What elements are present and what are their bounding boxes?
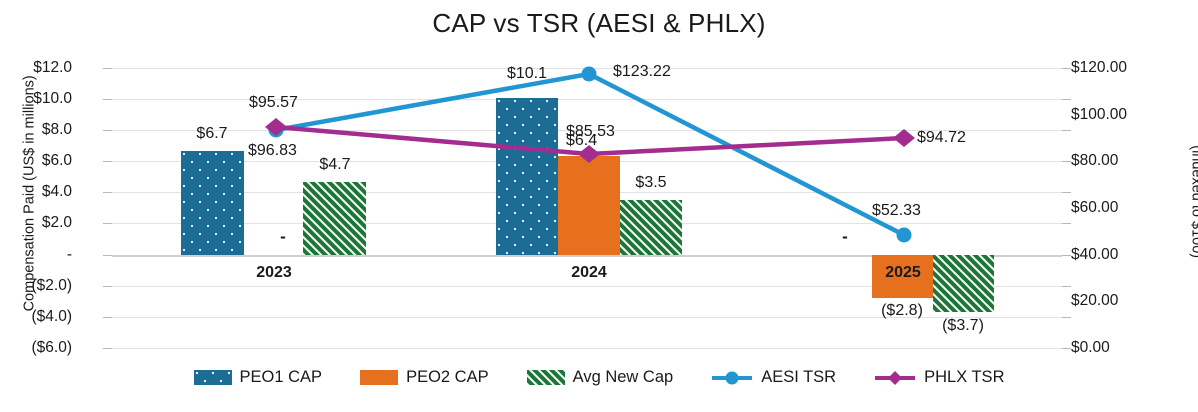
y2-tick-label: $60.00 <box>1071 200 1118 216</box>
tick-mark-left <box>103 68 112 69</box>
tick-mark-right <box>1062 99 1071 100</box>
y-tick-label: $12.0 <box>33 60 72 76</box>
tick-mark-right <box>1062 348 1071 349</box>
y2-tick-label: $120.00 <box>1071 60 1127 76</box>
bar-label-2023-peo1-cap: $6.7 <box>152 126 272 142</box>
point-label-aesi-tsr-2024: $123.22 <box>613 64 671 80</box>
gridline <box>112 348 1062 349</box>
y2-tick-label: $100.00 <box>1071 107 1127 123</box>
y-tick-label: $4.0 <box>42 184 72 200</box>
y-tick-label: - <box>67 247 72 263</box>
legend-line-diamond-icon <box>874 370 916 386</box>
y-tick-label: ($4.0) <box>32 309 73 325</box>
legend-item-peo1-cap[interactable]: PEO1 CAP <box>194 368 323 387</box>
y2-tick-label: $40.00 <box>1071 247 1118 263</box>
legend-item-peo2-cap[interactable]: PEO2 CAP <box>360 368 489 387</box>
bar-2024-avg-new-cap[interactable] <box>620 200 682 255</box>
bar-label-2025-peo1-cap: - <box>805 228 885 245</box>
aesi-tsr-marker-2025[interactable] <box>897 228 912 243</box>
y-tick-label: $10.0 <box>33 91 72 107</box>
y-tick-label: $6.0 <box>42 153 72 169</box>
bar-label-2024-peo1-cap: $10.1 <box>467 66 587 82</box>
bar-2024-peo2-cap[interactable] <box>558 156 620 255</box>
y-axis-title-right: Total Shareholder Return (indexed to $10… <box>1188 52 1198 352</box>
legend-line-circle-icon <box>711 370 753 386</box>
bar-2023-peo1-cap[interactable] <box>181 151 244 255</box>
bar-label-2023-avg-new-cap: $4.7 <box>275 157 395 173</box>
tick-mark-right <box>1062 68 1071 69</box>
bar-2024-peo1-cap[interactable] <box>496 98 558 255</box>
chart-legend: PEO1 CAP PEO2 CAP Avg New Cap AESI TSR P… <box>0 368 1198 387</box>
legend-label-avg-new-cap: Avg New Cap <box>573 368 674 387</box>
x-axis-group-label-2023: 2023 <box>214 265 334 281</box>
y-tick-label: ($2.0) <box>32 278 73 294</box>
y2-tick-label: $80.00 <box>1071 153 1118 169</box>
point-label-phlx-tsr-2023: $96.83 <box>248 143 297 159</box>
y-tick-label: $2.0 <box>42 215 72 231</box>
bar-2025-avg-new-cap[interactable] <box>933 255 994 312</box>
point-label-aesi-tsr-2023: $95.57 <box>249 95 298 111</box>
x-axis-group-label-2024: 2024 <box>529 265 649 281</box>
legend-item-phlx-tsr[interactable]: PHLX TSR <box>874 368 1004 387</box>
tick-mark-left <box>103 161 112 162</box>
legend-swatch-peo2-cap-icon <box>360 370 398 385</box>
point-label-phlx-tsr-2025: $94.72 <box>917 130 966 146</box>
tick-mark-right <box>1062 223 1071 224</box>
legend-label-aesi-tsr: AESI TSR <box>761 368 836 387</box>
tick-mark-right <box>1062 317 1071 318</box>
point-label-aesi-tsr-2025: $52.33 <box>872 203 921 219</box>
gridline <box>112 68 1062 69</box>
legend-label-phlx-tsr: PHLX TSR <box>924 368 1004 387</box>
tick-mark-left <box>103 317 112 318</box>
y2-tick-label: $20.00 <box>1071 293 1118 309</box>
bar-label-2024-avg-new-cap: $3.5 <box>591 175 711 191</box>
y-tick-label: $8.0 <box>42 122 72 138</box>
tick-mark-left <box>103 223 112 224</box>
tick-mark-right <box>1062 130 1071 131</box>
tick-mark-right <box>1062 255 1071 256</box>
y-axis-title-left: Compensation Paid (US$ in millions) <box>22 43 39 343</box>
bar-2023-avg-new-cap[interactable] <box>303 182 366 255</box>
bar-label-2025-avg-new-cap: ($3.7) <box>903 318 1023 334</box>
phlx-tsr-marker-2025[interactable] <box>893 129 915 147</box>
point-label-phlx-tsr-2024: $85.53 <box>566 124 615 140</box>
legend-label-peo2-cap: PEO2 CAP <box>406 368 489 387</box>
tick-mark-left <box>103 348 112 349</box>
legend-item-aesi-tsr[interactable]: AESI TSR <box>711 368 836 387</box>
tick-mark-left <box>103 99 112 100</box>
tick-mark-right <box>1062 161 1071 162</box>
y-tick-label: ($6.0) <box>32 340 73 356</box>
chart-title: CAP vs TSR (AESI & PHLX) <box>0 8 1198 39</box>
legend-swatch-peo1-cap-icon <box>194 370 232 385</box>
chart-container: CAP vs TSR (AESI & PHLX) Compensation Pa… <box>0 0 1198 412</box>
tick-mark-left <box>103 130 112 131</box>
y-axis-title-right-line2: (indexed to $100) <box>1189 145 1198 258</box>
tick-mark-left <box>103 192 112 193</box>
tick-mark-left <box>103 255 112 256</box>
legend-swatch-avg-new-cap-icon <box>527 370 565 385</box>
legend-item-avg-new-cap[interactable]: Avg New Cap <box>527 368 674 387</box>
x-axis-group-label-2025: 2025 <box>873 265 933 281</box>
legend-label-peo1-cap: PEO1 CAP <box>240 368 323 387</box>
tick-mark-left <box>103 286 112 287</box>
tick-mark-right <box>1062 286 1071 287</box>
tick-mark-right <box>1062 192 1071 193</box>
y2-tick-label: $0.00 <box>1071 340 1110 356</box>
